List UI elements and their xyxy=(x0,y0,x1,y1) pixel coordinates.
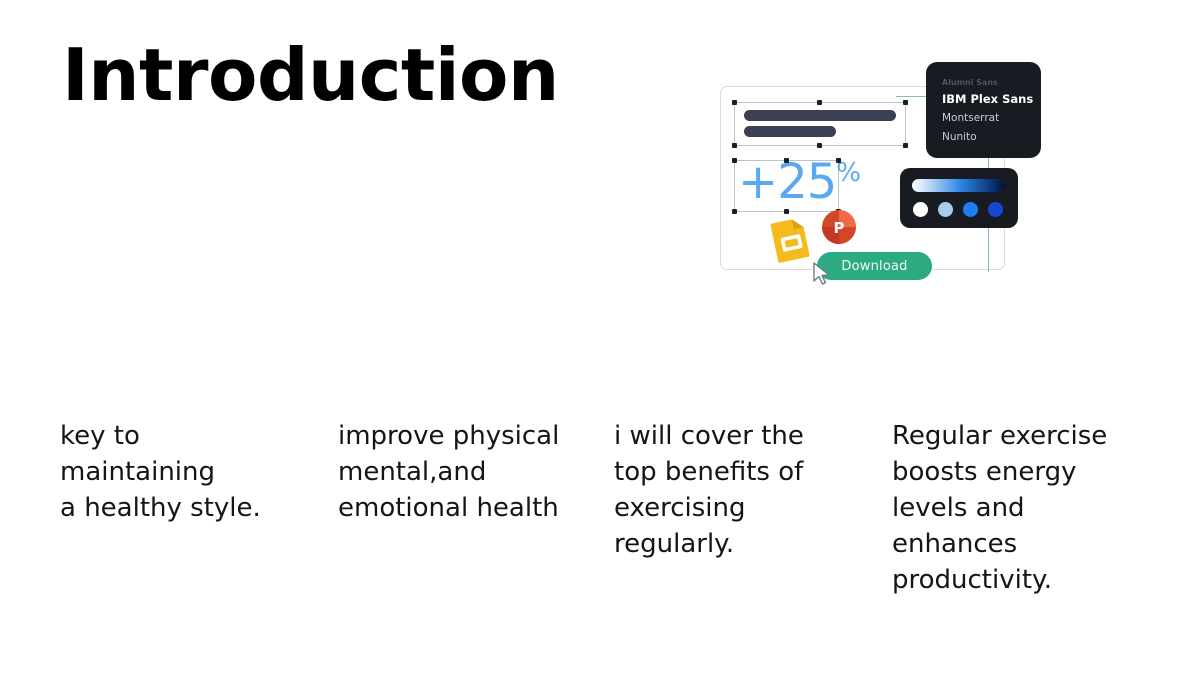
color-gradient-slider[interactable] xyxy=(912,179,1005,192)
color-swatch-blue[interactable] xyxy=(963,202,978,217)
text-bar-short xyxy=(744,126,836,137)
body-column-1: key to maintaining a healthy style. xyxy=(60,418,338,598)
body-column-3: i will cover the top benefits of exercis… xyxy=(614,418,892,598)
font-option-montserrat[interactable]: Montserrat xyxy=(942,109,1041,128)
selection-handle[interactable] xyxy=(903,100,908,105)
selection-handle[interactable] xyxy=(817,143,822,148)
panel-connector-horizontal xyxy=(896,96,930,97)
download-button[interactable]: Download xyxy=(817,252,932,280)
color-swatch-dark-blue[interactable] xyxy=(988,202,1003,217)
color-swatch-light-blue[interactable] xyxy=(938,202,953,217)
selection-handle[interactable] xyxy=(732,100,737,105)
body-column-2: improve physical mental,and emotional he… xyxy=(338,418,614,598)
selection-handle[interactable] xyxy=(732,143,737,148)
font-option-nunito[interactable]: Nunito xyxy=(942,128,1041,147)
selection-handle[interactable] xyxy=(784,209,789,214)
color-swatch-white[interactable] xyxy=(913,202,928,217)
color-picker-panel[interactable] xyxy=(900,168,1018,228)
selection-handle[interactable] xyxy=(732,158,737,163)
font-option-alumni-sans[interactable]: Alumni Sans xyxy=(942,75,1041,90)
selection-handle[interactable] xyxy=(732,209,737,214)
slide-editor-illustration: +25% Alumni Sans IBM Plex Sans Montserra… xyxy=(700,50,1045,300)
svg-text:P: P xyxy=(834,219,845,237)
slide-root: Introduction +25% Alumni Sans IBM Plex S… xyxy=(0,0,1200,675)
body-column-4: Regular exercise boosts energy levels an… xyxy=(892,418,1150,598)
selection-handle[interactable] xyxy=(817,100,822,105)
page-title: Introduction xyxy=(62,38,559,114)
text-bar-long xyxy=(744,110,896,121)
selection-handle[interactable] xyxy=(836,158,841,163)
download-button-label: Download xyxy=(841,259,907,274)
text-selection-box[interactable] xyxy=(734,102,906,146)
powerpoint-icon[interactable]: P xyxy=(820,208,858,246)
body-columns: key to maintaining a healthy style. impr… xyxy=(60,418,1150,598)
selection-handle[interactable] xyxy=(784,158,789,163)
font-picker-panel[interactable]: Alumni Sans IBM Plex Sans Montserrat Nun… xyxy=(926,62,1041,158)
cursor-arrow-icon xyxy=(812,262,832,286)
percent-label: +25% xyxy=(738,158,860,206)
font-option-ibm-plex-sans[interactable]: IBM Plex Sans xyxy=(942,90,1041,109)
selection-handle[interactable] xyxy=(903,143,908,148)
